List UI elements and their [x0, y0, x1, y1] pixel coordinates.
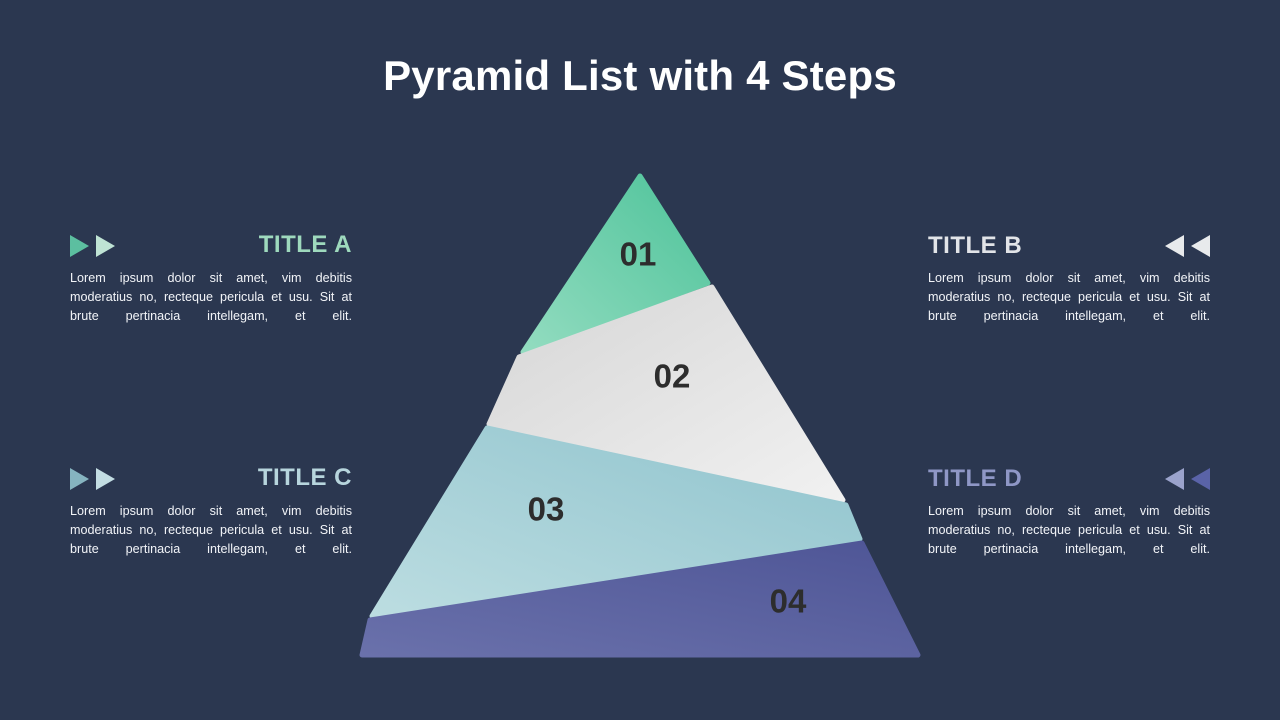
text-block-title-a: TITLE A Lorem ipsum dolor sit amet, vim … — [70, 228, 352, 326]
slide-canvas: Pyramid List with 4 Steps 01 — [0, 0, 1280, 720]
text-block-title-d: TITLE D Lorem ipsum dolor sit amet, vim … — [928, 461, 1210, 559]
play-arrow-icon — [96, 235, 115, 257]
title-b-label: TITLE B — [928, 231, 1022, 261]
play-arrow-icon — [1165, 468, 1184, 490]
title-c-header: TITLE C — [70, 461, 352, 497]
segment-03-number: 03 — [528, 491, 565, 528]
title-d-body: Lorem ipsum dolor sit amet, vim debitis … — [928, 502, 1210, 559]
title-d-arrows — [1165, 461, 1210, 497]
text-block-title-b: TITLE B Lorem ipsum dolor sit amet, vim … — [928, 228, 1210, 326]
play-arrow-icon — [70, 235, 89, 257]
segment-02-number: 02 — [654, 358, 691, 395]
title-c-label: TITLE C — [258, 463, 352, 493]
title-c-body: Lorem ipsum dolor sit amet, vim debitis … — [70, 502, 352, 559]
title-a-label: TITLE A — [259, 230, 352, 260]
title-d-header: TITLE D — [928, 461, 1210, 497]
segment-04-number: 04 — [770, 583, 807, 620]
title-b-body: Lorem ipsum dolor sit amet, vim debitis … — [928, 269, 1210, 326]
title-b-header: TITLE B — [928, 228, 1210, 264]
play-arrow-icon — [96, 468, 115, 490]
text-block-title-c: TITLE C Lorem ipsum dolor sit amet, vim … — [70, 461, 352, 559]
title-d-label: TITLE D — [928, 464, 1022, 494]
play-arrow-icon — [70, 468, 89, 490]
title-b-arrows — [1165, 228, 1210, 264]
play-arrow-icon — [1191, 235, 1210, 257]
title-c-arrows — [70, 461, 115, 497]
segment-01-number: 01 — [620, 236, 657, 273]
pyramid-diagram: 01 02 03 04 — [340, 160, 940, 680]
title-a-arrows — [70, 228, 115, 264]
title-a-header: TITLE A — [70, 228, 352, 264]
play-arrow-icon — [1165, 235, 1184, 257]
page-title: Pyramid List with 4 Steps — [0, 48, 1280, 104]
play-arrow-icon — [1191, 468, 1210, 490]
title-a-body: Lorem ipsum dolor sit amet, vim debitis … — [70, 269, 352, 326]
